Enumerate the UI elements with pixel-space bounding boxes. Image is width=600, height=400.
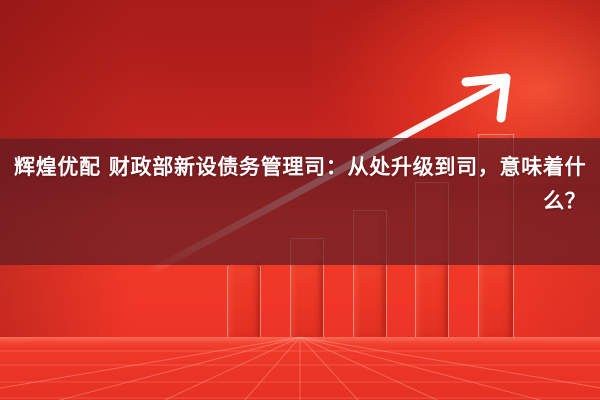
headline-text: 辉煌优配 财政部新设债务管理司：从处升级到司，意味着什么？ (0, 150, 600, 218)
band-top-edge (0, 138, 600, 139)
banner-image: 辉煌优配 财政部新设债务管理司：从处升级到司，意味着什么？ (0, 0, 600, 400)
